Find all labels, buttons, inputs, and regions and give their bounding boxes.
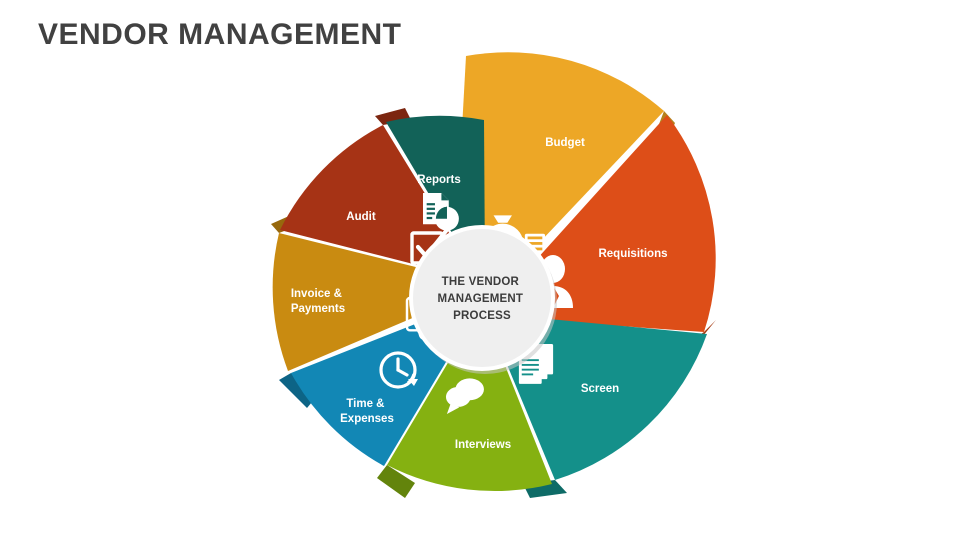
- slide-canvas: VENDOR MANAGEMENT Budget: [0, 0, 960, 540]
- pinwheel-svg: Budget $ Requisitions: [255, 28, 725, 533]
- vendor-management-pinwheel-diagram: Budget $ Requisitions: [255, 28, 725, 533]
- center-hub: THE VENDOR MANAGEMENT PROCESS: [411, 227, 557, 374]
